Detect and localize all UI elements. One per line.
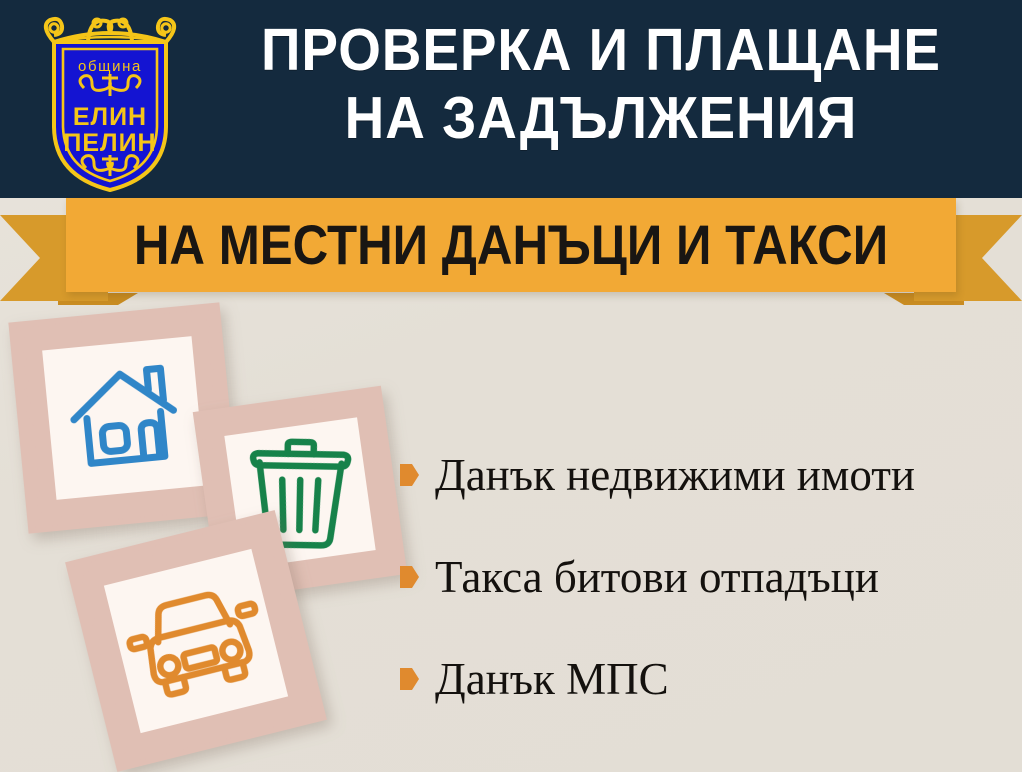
header-bar: община ЕЛИН ПЕЛИН	[0, 0, 1022, 198]
ribbon-label: НА МЕСТНИ ДАНЪЦИ И ТАКСИ	[119, 198, 902, 292]
list-item[interactable]: Такса битови отпадъци	[400, 526, 1020, 628]
list-item-label: Такса битови отпадъци	[435, 552, 879, 602]
ribbon-panel: НА МЕСТНИ ДАНЪЦИ И ТАКСИ	[66, 198, 956, 292]
arrow-bullet-icon	[400, 668, 419, 690]
arrow-bullet-icon	[400, 464, 419, 486]
arrow-bullet-icon	[400, 566, 419, 588]
title-line-1: ПРОВЕРКА И ПЛАЩАНЕ	[224, 16, 977, 84]
municipality-logo: община ЕЛИН ПЕЛИН	[28, 8, 192, 194]
list-item-label: Данък МПС	[435, 654, 669, 704]
title-line-2: НА ЗАДЪЛЖЕНИЯ	[224, 84, 977, 152]
coat-of-arms-icon: община ЕЛИН ПЕЛИН	[28, 8, 192, 194]
poster-canvas: община ЕЛИН ПЕЛИН	[0, 0, 1022, 772]
svg-text:ЕЛИН: ЕЛИН	[73, 103, 147, 131]
svg-text:ПЕЛИН: ПЕЛИН	[63, 129, 156, 157]
svg-text:община: община	[78, 58, 142, 75]
services-list: Данък недвижими имоти Такса битови отпад…	[400, 424, 1020, 730]
poster-title: ПРОВЕРКА И ПЛАЩАНЕ НА ЗАДЪЛЖЕНИЯ	[196, 16, 1006, 152]
subtitle-ribbon: НА МЕСТНИ ДАНЪЦИ И ТАКСИ	[0, 198, 1022, 302]
list-item[interactable]: Данък МПС	[400, 628, 1020, 730]
list-item-label: Данък недвижими имоти	[435, 450, 915, 500]
list-item[interactable]: Данък недвижими имоти	[400, 424, 1020, 526]
